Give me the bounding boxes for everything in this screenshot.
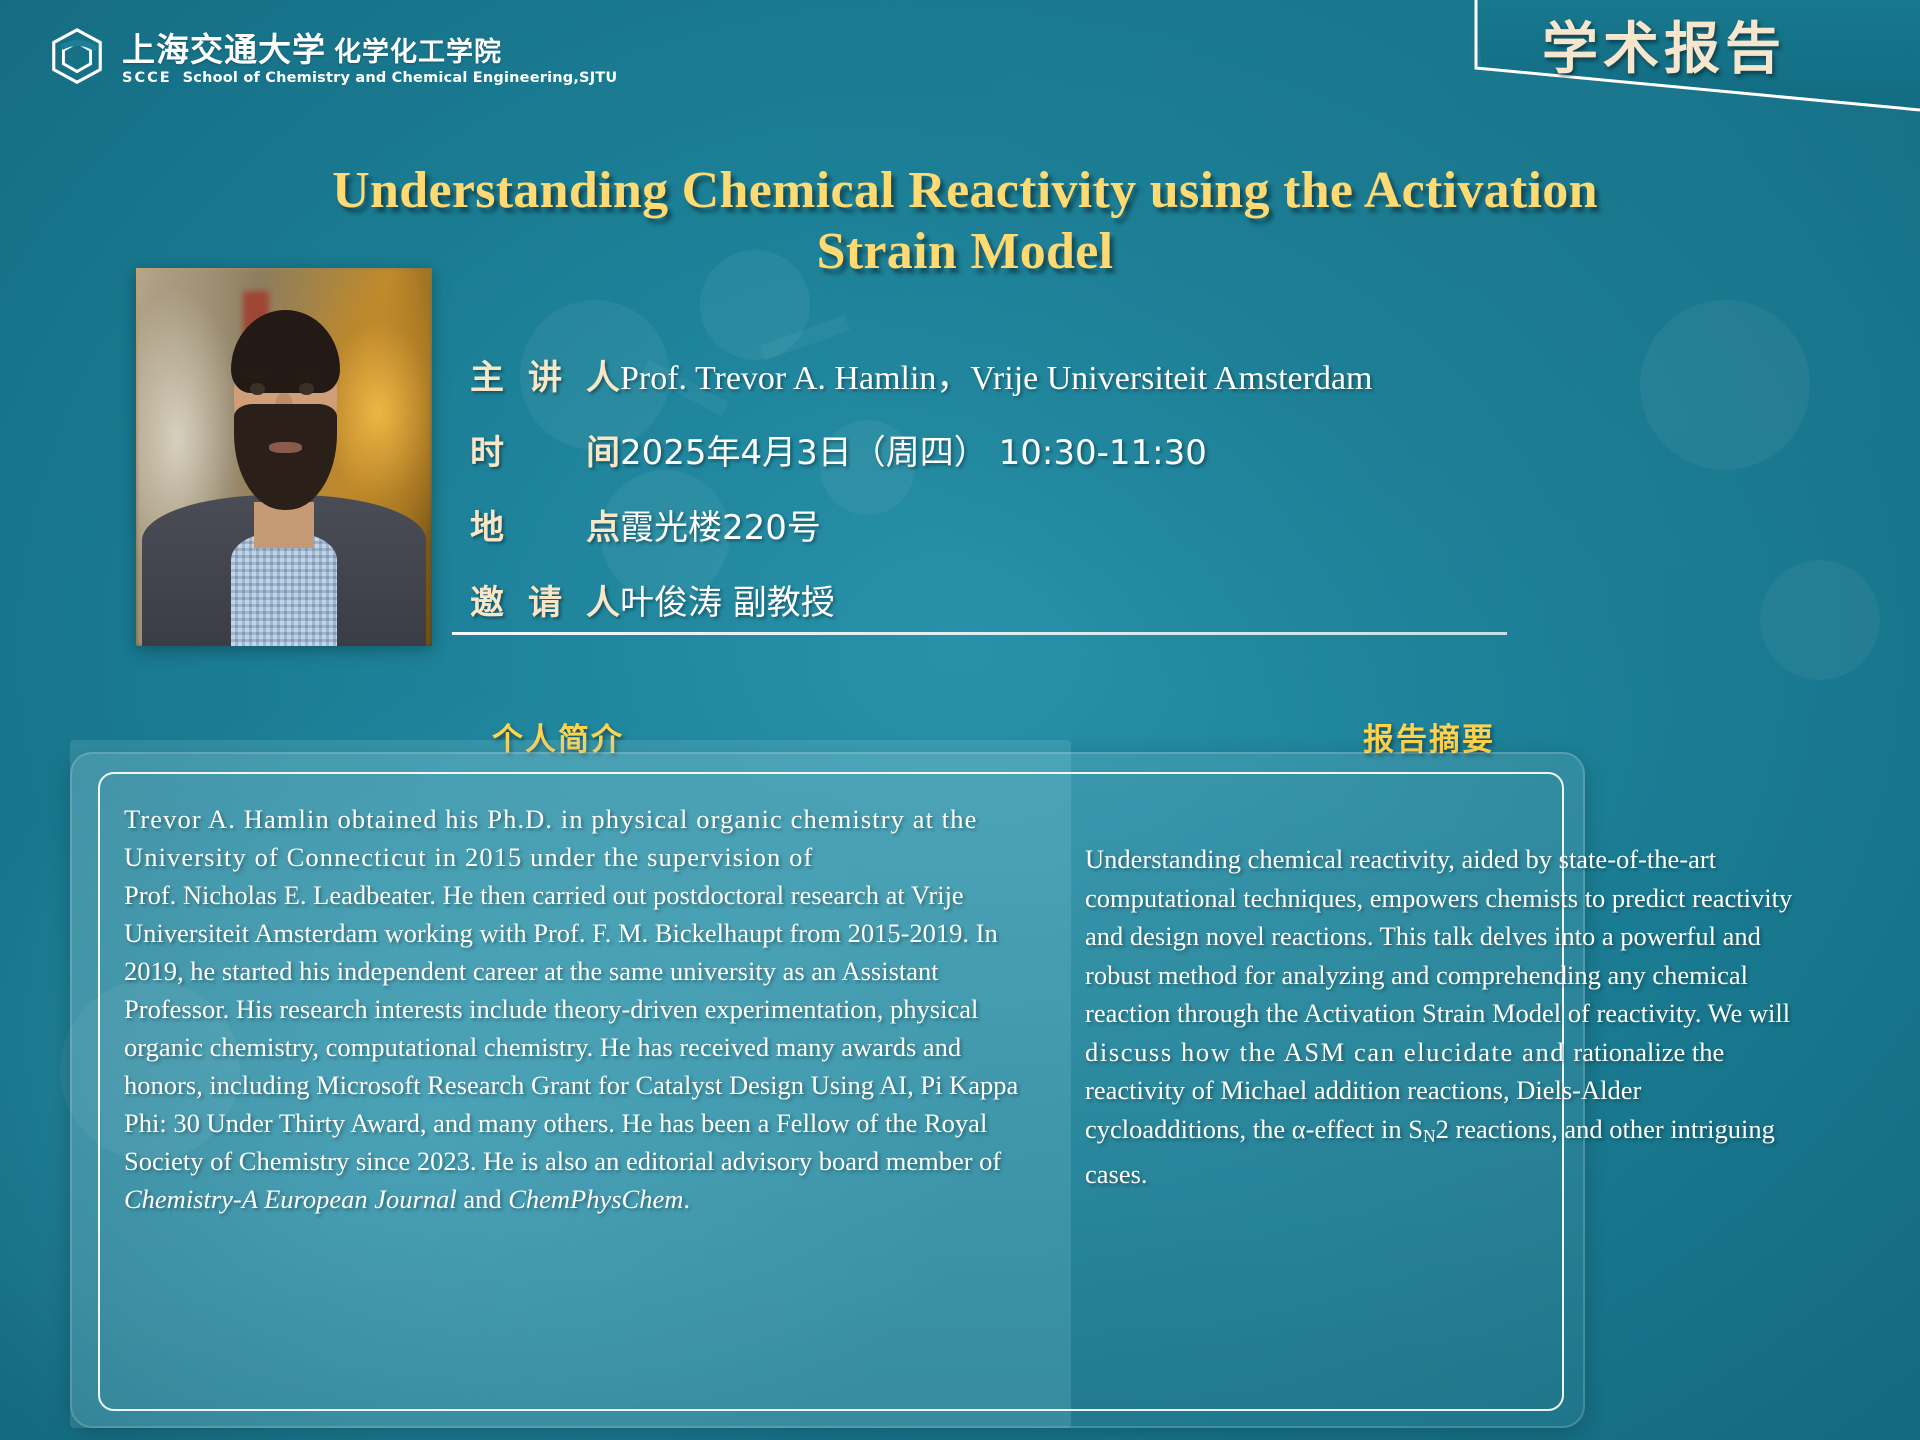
speaker-photo — [136, 268, 432, 646]
journal-name-1: Chemistry-A European Journal — [124, 1184, 457, 1214]
host-value: 叶俊涛 副教授 — [620, 575, 835, 624]
molecule-decor — [1640, 300, 1810, 470]
seminar-details: 主 讲 人 Prof. Trevor A. Hamlin，Vrije Unive… — [470, 350, 1550, 650]
logo-chinese-name: 上海交通大学化学化工学院 — [122, 33, 617, 68]
place-row: 地 点 霞光楼220号 — [470, 500, 1550, 549]
ribbon-label: 学术报告 — [1542, 4, 1786, 85]
time-label: 时 间 — [470, 425, 620, 474]
host-row: 邀 请 人 叶俊涛 副教授 — [470, 575, 1550, 624]
divider-line — [452, 632, 1507, 635]
speaker-label: 主 讲 人 — [470, 350, 620, 399]
abstract-part-1: Understanding chemical reactivity, aided… — [1085, 844, 1792, 1028]
bio-body: Prof. Nicholas E. Leadbeater. He then ca… — [124, 880, 1018, 1176]
bio-text: Trevor A. Hamlin obtained his Ph.D. in p… — [124, 800, 1044, 1218]
speaker-value: Prof. Trevor A. Hamlin，Vrije Universitei… — [620, 350, 1373, 399]
time-row: 时 间 2025年4月3日（周四） 10:30-11:30 — [470, 425, 1550, 474]
place-label: 地 点 — [470, 500, 620, 549]
bio-conjunction: and — [457, 1184, 509, 1214]
page-title: Understanding Chemical Reactivity using … — [300, 160, 1630, 283]
host-label: 邀 请 人 — [470, 575, 620, 624]
logo-abbreviation: SCCE — [122, 70, 172, 86]
logo-english-name: School of Chemistry and Chemical Enginee… — [183, 70, 618, 86]
abstract-spaced-line: discuss how the ASM can elucidate and — [1085, 1037, 1573, 1067]
molecule-decor — [1760, 560, 1880, 680]
journal-name-2: ChemPhysChem — [508, 1184, 683, 1214]
time-value: 2025年4月3日（周四） 10:30-11:30 — [620, 425, 1207, 474]
place-value: 霞光楼220号 — [620, 500, 821, 549]
sn2-subscript: N — [1423, 1125, 1436, 1145]
bio-lead: Trevor A. Hamlin obtained his Ph.D. in p… — [124, 804, 977, 872]
logo-university-name: 上海交通大学 — [122, 30, 326, 69]
abstract-text: Understanding chemical reactivity, aided… — [1085, 840, 1800, 1193]
seminar-poster: 上海交通大学化学化工学院 SCCE School of Chemistry an… — [0, 0, 1920, 1440]
academic-report-ribbon: 学术报告 — [1468, 0, 1920, 112]
bio-end: . — [683, 1184, 690, 1214]
speaker-row: 主 讲 人 Prof. Trevor A. Hamlin，Vrije Unive… — [470, 350, 1550, 399]
school-logo: 上海交通大学化学化工学院 SCCE School of Chemistry an… — [46, 26, 617, 88]
scce-hexagon-icon — [46, 26, 108, 88]
logo-english-line: SCCE School of Chemistry and Chemical En… — [122, 70, 617, 86]
logo-school-name: 化学化工学院 — [334, 37, 502, 68]
